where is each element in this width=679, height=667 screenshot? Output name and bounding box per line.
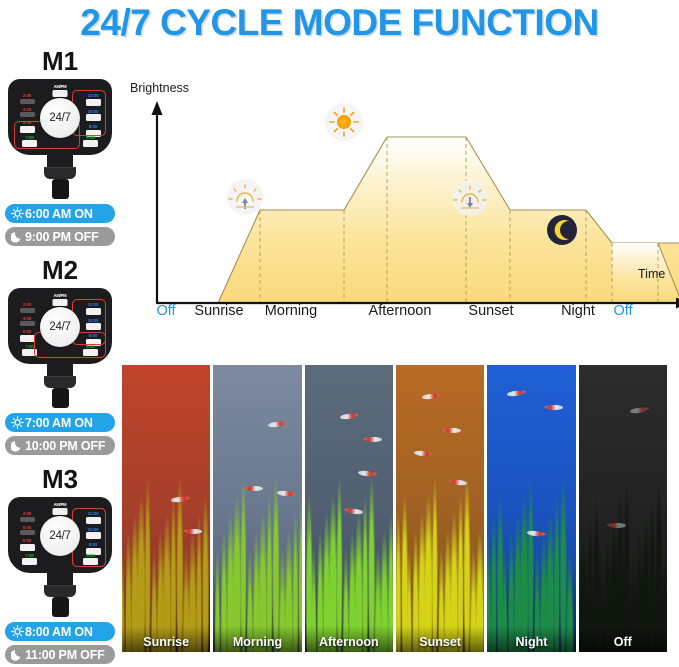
time-label: 10:00 [83, 109, 103, 114]
moon-icon [547, 215, 577, 245]
chart-x-tick-labels: OffSunriseMorningAfternoonSunsetNightOff [120, 303, 679, 325]
fish-tail [362, 437, 367, 441]
time-label: 7:00 [19, 553, 40, 558]
time-label: 12:00 [83, 511, 103, 516]
device-neck [47, 363, 73, 376]
time-slot[interactable]: 4:00 [17, 316, 37, 327]
off-time-badge: 9:00 PM OFF [5, 227, 115, 246]
panel-plants [305, 457, 393, 652]
mode-title: M3 [0, 464, 120, 494]
fish-body [247, 486, 263, 491]
slot-button[interactable] [83, 140, 98, 147]
fish-tail [182, 529, 187, 533]
chart-plot [120, 75, 679, 325]
schedule-pills: 8:00 AM ON11:00 PM OFF [5, 622, 115, 664]
device-neck [47, 154, 73, 167]
aquarium-panel-off: Off [579, 365, 667, 652]
device-neck [47, 572, 73, 585]
sunset-icon [452, 180, 488, 216]
moon-icon [10, 230, 25, 243]
controller-device: AM/PM2:006:006:0012:0010:008:007:008:002… [8, 497, 112, 617]
time-label: 7:00 [19, 135, 40, 140]
page-title: 24/7 CYCLE MODE FUNCTION [0, 2, 679, 44]
panel-caption: Morning [213, 635, 301, 649]
slot-button-active[interactable] [20, 335, 35, 342]
mode-title: M1 [0, 46, 120, 76]
time-label: 6:00 [17, 538, 37, 543]
fish-tail [185, 496, 190, 501]
aquarium-panel-afternoon: Afternoon [305, 365, 393, 652]
time-slot[interactable]: 6:00 [17, 538, 37, 551]
on-time-badge: 8:00 AM ON [5, 622, 115, 641]
time-label: 2:00 [17, 302, 37, 307]
fish-tail [243, 486, 248, 490]
off-time-badge: 11:00 PM OFF [5, 645, 115, 664]
device-base [44, 167, 76, 179]
fish-tail [543, 405, 548, 409]
slot-button[interactable] [86, 532, 101, 539]
slot-button[interactable] [22, 558, 37, 565]
time-label: 5:00 [17, 329, 37, 334]
schedule-pills: 7:00 AM ON10:00 PM OFF [5, 413, 115, 455]
fish-tail [437, 392, 442, 397]
slot-button[interactable] [83, 349, 98, 356]
brightness-cycle-chart: Brightness Time [120, 75, 679, 325]
time-slot[interactable]: 8:00 [80, 135, 101, 148]
time-slot[interactable]: 10:00 [83, 109, 103, 122]
chart-area-path [218, 137, 679, 303]
time-slot[interactable]: 8:00 [80, 344, 101, 357]
slot-button[interactable] [20, 308, 35, 313]
ampm-button[interactable] [53, 299, 68, 306]
on-time-label: 8:00 AM ON [25, 625, 93, 639]
panel-plants [487, 457, 575, 652]
fish-tail [343, 507, 348, 512]
fish-tail [428, 452, 433, 457]
mode-block-m1: M1AM/PM2:004:005:0012:0010:008:007:008:0… [0, 46, 120, 246]
fish-tail [372, 472, 377, 477]
controller-face: AM/PM2:006:006:0012:0010:008:007:008:002… [8, 497, 112, 573]
controller-face: AM/PM2:004:005:0012:0010:008:007:008:002… [8, 288, 112, 364]
time-slot[interactable]: 12:00 [83, 511, 103, 524]
aquarium-panel-sunrise: Sunrise [122, 365, 210, 652]
off-time-label: 10:00 PM OFF [25, 439, 105, 453]
fish-tail [447, 478, 452, 483]
device-cord [52, 179, 69, 199]
fish [445, 428, 461, 433]
time-slot[interactable]: 10:00 [83, 527, 103, 540]
off-time-label: 11:00 PM OFF [25, 648, 105, 662]
ampm-control[interactable]: AM/PM [53, 502, 68, 515]
time-slot[interactable]: 2:00 [17, 511, 37, 522]
dial-label: 24/7 [49, 112, 70, 124]
device-cord [52, 597, 69, 617]
slot-button[interactable] [86, 308, 101, 315]
slot-button-active[interactable] [20, 544, 35, 551]
fish-tail [355, 412, 360, 417]
panel-plants [396, 457, 484, 652]
time-slot[interactable]: 2:00 [17, 93, 37, 104]
time-label: 10:00 [83, 527, 103, 532]
ampm-button[interactable] [53, 508, 68, 515]
fish-tail [645, 407, 650, 412]
aquarium-panel-morning: Morning [213, 365, 301, 652]
x-tick-night-5: Night [561, 303, 595, 319]
x-tick-sunset-4: Sunset [468, 303, 513, 319]
schedule-pills: 6:00 AM ON9:00 PM OFF [5, 204, 115, 246]
chart-y-axis-label: Brightness [130, 81, 189, 95]
left-time-column: 2:006:006:00 [17, 511, 37, 554]
on-time-label: 7:00 AM ON [25, 416, 93, 430]
fish-tail [542, 532, 547, 537]
dial-label: 24/7 [49, 321, 70, 333]
slot-button[interactable] [20, 112, 35, 117]
slot-button[interactable] [20, 517, 35, 522]
panel-caption: Sunset [396, 635, 484, 649]
ampm-label: AM/PM [53, 84, 68, 89]
fish [247, 486, 263, 491]
time-slot[interactable]: 8:00 [80, 553, 101, 566]
time-label: 8:00 [80, 553, 101, 558]
fish-body [445, 428, 461, 433]
slot-button[interactable] [20, 530, 35, 535]
time-label: 8:00 [80, 135, 101, 140]
fish-tail [292, 492, 297, 497]
right-time-column: 12:0010:008:00 [83, 93, 103, 140]
fish [547, 405, 563, 410]
panel-caption: Off [579, 635, 667, 649]
ampm-label: AM/PM [53, 293, 68, 298]
slot-button[interactable] [86, 99, 101, 106]
page-root: 24/7 CYCLE MODE FUNCTION M1AM/PM2:004:00… [0, 0, 679, 667]
fish-tail [521, 389, 526, 394]
mode-list: M1AM/PM2:004:005:0012:0010:008:007:008:0… [0, 46, 120, 667]
time-slot[interactable]: 7:00 [19, 135, 40, 148]
time-slot[interactable]: 7:00 [19, 344, 40, 357]
on-time-badge: 7:00 AM ON [5, 413, 115, 432]
device-base [44, 585, 76, 597]
slot-button[interactable] [86, 323, 101, 330]
time-slot[interactable]: 5:00 [17, 329, 37, 342]
time-label: 12:00 [83, 302, 103, 307]
time-slot[interactable]: 2:00 [17, 302, 37, 313]
off-time-label: 9:00 PM OFF [25, 230, 99, 244]
time-label: 8:00 [83, 333, 103, 338]
x-tick-morning-2: Morning [265, 303, 317, 319]
time-label: 5:00 [17, 120, 37, 125]
sun-icon [325, 103, 363, 141]
slot-button[interactable] [86, 517, 101, 524]
fish-body [186, 529, 202, 534]
slot-button-active[interactable] [20, 126, 35, 133]
time-label: 6:00 [17, 525, 37, 530]
panel-caption: Night [487, 635, 575, 649]
cycle-dial[interactable]: 24/7 [40, 516, 80, 556]
fish-tail [441, 428, 446, 432]
slot-button[interactable] [22, 349, 37, 356]
on-time-label: 6:00 AM ON [25, 207, 93, 221]
time-slot[interactable]: 5:00 [17, 120, 37, 133]
aquarium-photo-strip: SunriseMorningAfternoonSunsetNightOff [122, 365, 667, 652]
dial-label: 24/7 [49, 530, 70, 542]
mode-block-m3: M3AM/PM2:006:006:0012:0010:008:007:008:0… [0, 464, 120, 664]
time-slot[interactable]: 6:00 [17, 525, 37, 536]
time-label: 8:00 [80, 344, 101, 349]
time-label: 7:00 [19, 344, 40, 349]
x-tick-off-0: Off [156, 303, 175, 319]
sun-icon [10, 416, 25, 429]
time-label: 12:00 [83, 93, 103, 98]
time-label: 2:00 [17, 93, 37, 98]
ampm-label: AM/PM [53, 502, 68, 507]
left-time-column: 2:004:005:00 [17, 302, 37, 345]
slot-button[interactable] [83, 558, 98, 565]
chart-y-axis-arrow [152, 101, 163, 115]
fish-body [547, 405, 563, 410]
panel-caption: Afternoon [305, 635, 393, 649]
device-cord [52, 388, 69, 408]
time-label: 8:00 [83, 542, 103, 547]
time-label: 8:00 [83, 124, 103, 129]
sun-icon [10, 207, 25, 220]
aquarium-panel-night: Night [487, 365, 575, 652]
time-slot[interactable]: 7:00 [19, 553, 40, 566]
mode-title: M2 [0, 255, 120, 285]
time-slot[interactable]: 12:00 [83, 93, 103, 106]
right-time-column: 12:0010:008:00 [83, 302, 103, 349]
right-time-column: 12:0010:008:00 [83, 511, 103, 558]
device-base [44, 376, 76, 388]
sunrise-icon [227, 179, 263, 215]
fish-tail [606, 523, 611, 527]
slot-button[interactable] [20, 99, 35, 104]
mode-block-m2: M2AM/PM2:004:005:0012:0010:008:007:008:0… [0, 255, 120, 455]
sun-icon [10, 625, 25, 638]
panel-plants [122, 457, 210, 652]
cycle-dial[interactable]: 24/7 [40, 98, 80, 138]
fish [610, 523, 626, 528]
slot-button[interactable] [20, 321, 35, 326]
aquarium-panel-sunset: Sunset [396, 365, 484, 652]
fish-body [366, 437, 382, 442]
off-time-badge: 10:00 PM OFF [5, 436, 115, 455]
time-label: 2:00 [17, 511, 37, 516]
time-label: 10:00 [83, 318, 103, 323]
x-tick-off-6: Off [613, 303, 632, 319]
time-slot[interactable]: 10:00 [83, 318, 103, 331]
time-label: 4:00 [17, 316, 37, 321]
controller-face: AM/PM2:004:005:0012:0010:008:007:008:002… [8, 79, 112, 155]
ampm-control[interactable]: AM/PM [53, 84, 68, 97]
moon-icon [10, 648, 25, 661]
controller-device: AM/PM2:004:005:0012:0010:008:007:008:002… [8, 288, 112, 408]
on-time-badge: 6:00 AM ON [5, 204, 115, 223]
x-tick-afternoon-3: Afternoon [369, 303, 432, 319]
x-tick-sunrise-1: Sunrise [194, 303, 243, 319]
controller-device: AM/PM2:004:005:0012:0010:008:007:008:002… [8, 79, 112, 199]
panel-plants [579, 457, 667, 652]
fish [186, 529, 202, 534]
panel-caption: Sunrise [122, 635, 210, 649]
slot-button[interactable] [22, 140, 37, 147]
ampm-control[interactable]: AM/PM [53, 293, 68, 306]
ampm-button[interactable] [53, 90, 68, 97]
fish-body [610, 523, 626, 528]
cycle-dial[interactable]: 24/7 [40, 307, 80, 347]
fish [366, 437, 382, 442]
moon-icon [10, 439, 25, 452]
time-label: 4:00 [17, 107, 37, 112]
slot-button[interactable] [86, 114, 101, 121]
time-slot[interactable]: 4:00 [17, 107, 37, 118]
chart-x-axis-label: Time [638, 267, 665, 281]
time-slot[interactable]: 12:00 [83, 302, 103, 315]
left-time-column: 2:004:005:00 [17, 93, 37, 136]
